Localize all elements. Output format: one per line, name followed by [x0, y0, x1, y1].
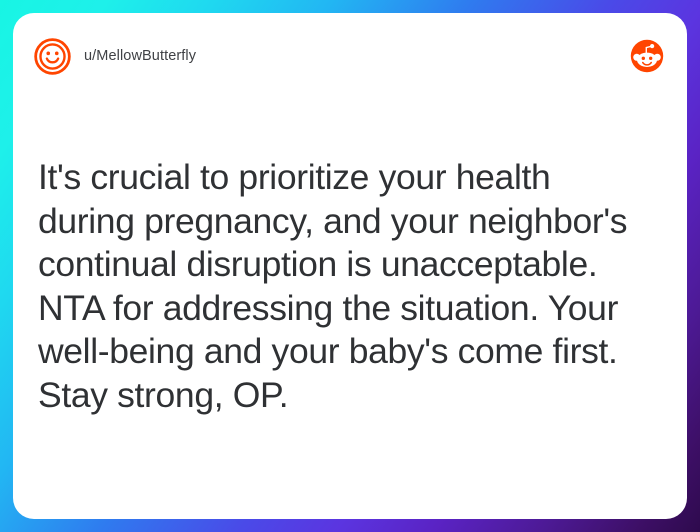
smiley-face-avatar-icon[interactable]	[34, 38, 71, 75]
post-text-line: during pregnancy, and your neighbor's	[38, 200, 667, 244]
reddit-post-card: u/MellowButterfly	[13, 13, 687, 519]
reddit-snoo-logo-icon[interactable]	[629, 38, 665, 74]
post-text-line: NTA for addressing the situation. Your	[38, 287, 667, 331]
post-text-line: It's crucial to prioritize your health	[38, 156, 667, 200]
post-body: It's crucial to prioritize your health d…	[38, 156, 667, 417]
post-text-line: well-being and your baby's come first.	[38, 330, 667, 374]
post-header: u/MellowButterfly	[13, 13, 687, 99]
gradient-background: u/MellowButterfly	[0, 0, 700, 532]
post-text-line: continual disruption is unacceptable.	[38, 243, 667, 287]
username-label[interactable]: u/MellowButterfly	[84, 48, 196, 64]
post-text-line: Stay strong, OP.	[38, 374, 667, 418]
